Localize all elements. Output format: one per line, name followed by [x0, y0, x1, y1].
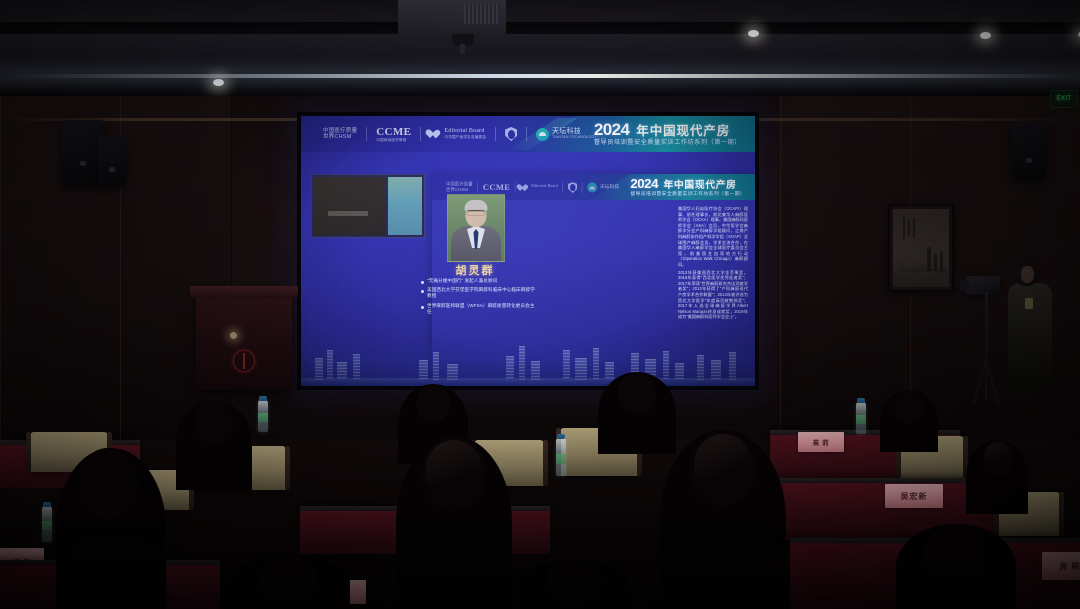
ccme-logo: CCME	[483, 183, 510, 192]
bullet-dot-icon	[421, 281, 424, 284]
ceiling-downlight	[748, 30, 759, 37]
audience-member	[230, 556, 350, 609]
slide-title: 年中国现代产房	[636, 124, 730, 138]
operator-face	[1021, 266, 1034, 283]
audience-member	[880, 390, 938, 452]
audience-member	[966, 440, 1028, 514]
ceiling-led-strip	[0, 74, 1080, 78]
chsm-logo: 中国医疗质量 世界CHSM	[323, 128, 357, 141]
logo-divider	[477, 182, 478, 193]
video-camera	[966, 276, 1000, 295]
audience-member	[520, 560, 630, 609]
bio-paragraph: 2013年获美国西北大学金苹果奖，2016年获得“西北医学优秀医者奖”；2017…	[678, 270, 748, 320]
attendee-shoulders	[56, 534, 166, 609]
portrait-glasses	[467, 210, 486, 216]
speaker-cone	[80, 161, 87, 166]
wall-speaker-left-lower	[98, 136, 126, 186]
inner-slide-year: 2024	[630, 177, 658, 190]
audience-member	[660, 430, 786, 609]
bottle-label	[258, 413, 268, 421]
logo-divider	[563, 182, 564, 193]
attendee-hair-highlight	[694, 434, 752, 496]
operator-badge	[1025, 298, 1033, 309]
lectern-lamp	[230, 332, 237, 339]
name-placard: 房 晓	[1042, 552, 1080, 580]
bullet-dot-icon	[421, 306, 424, 309]
speaker-credentials: “无痛分娩中国行” 发起人兼总顾问 美国西北大学芬堡医学院麻醉科临床中心临床麻醉…	[421, 278, 539, 318]
ceiling-soffit	[0, 34, 1080, 72]
bottle-cap	[43, 502, 51, 507]
inner-slide-subtitle: 督导员培训暨安全质量实训工作坊系列（第一期）	[630, 191, 745, 197]
bottle-cap	[857, 398, 865, 403]
logo-divider	[495, 127, 496, 141]
thumbnail-teal-panel	[388, 177, 422, 235]
bullet-dot-icon	[421, 290, 424, 293]
audience-member	[396, 436, 512, 609]
tiantan-tech-logo: 天坛科技 TIANTAN TECHNOLOGY	[536, 128, 597, 141]
attendee-shoulders	[660, 524, 786, 609]
speaker-bio: 美国华人妇幼医疗协会（OCAPI）理事、前任理事长，前北美华人麻醉医师学会（OC…	[678, 206, 748, 322]
audience-member	[176, 400, 252, 490]
tripod-leg	[985, 360, 987, 400]
camera-lens-icon	[960, 280, 969, 291]
tiantan-icon	[587, 182, 597, 192]
heart-icon	[430, 129, 441, 139]
editorial-board-logo: Editorial Board	[520, 184, 557, 192]
speaker-name: 胡灵群	[429, 262, 521, 278]
thumbnail-text-line	[328, 211, 368, 216]
attendee-hair-highlight	[426, 440, 482, 500]
attendee-head	[894, 390, 924, 424]
bottle-cap	[259, 396, 267, 401]
attendee-hair-highlight	[984, 442, 1012, 472]
ccme-logo: CCME 中国继续医学教育	[376, 126, 411, 143]
water-bottle	[42, 506, 52, 542]
speaker-cone	[1026, 158, 1033, 163]
attendee-shoulders	[396, 528, 512, 609]
lectern	[196, 292, 292, 390]
name-placard: 吴宏新	[885, 484, 943, 508]
slide-title-block: 2024 年中国现代产房 督导员培训暨安全质量实训工作坊系列（第一期）	[594, 121, 741, 147]
water-bottle	[556, 438, 566, 476]
slide-subtitle: 督导员培训暨安全质量实训工作坊系列（第一期）	[594, 139, 741, 147]
camera-operator	[1008, 258, 1052, 390]
attendee-head	[416, 384, 450, 422]
chsm-logo: 中国医疗质量 世界CHSM	[446, 182, 473, 192]
bottle-label	[42, 521, 52, 530]
name-placard: 茱 莉	[798, 432, 844, 452]
attendee-head	[194, 400, 234, 444]
conference-room-scene: EXIT 中国医疗质量 世界CHSM	[0, 0, 1080, 609]
attendee-head	[924, 524, 986, 584]
tiantan-tech-logo: 天坛科技	[587, 182, 619, 192]
ceiling-dark-band	[0, 22, 1080, 34]
shield-icon	[568, 182, 577, 193]
audience-member	[598, 372, 676, 454]
slide-header: 中国医疗质量 世界CHSM CCME 中国继续医学教育 Editorial Bo…	[301, 116, 755, 152]
bio-paragraph: 美国华人妇幼医疗协会（OCAPI）理事、前任理事长，前北美华人麻醉医师学会（OC…	[678, 206, 748, 268]
projector-mount	[460, 44, 465, 54]
credential-item: 世界麻醉医师联盟（WFSA）麻醉质量转化委员会主任	[421, 303, 539, 315]
attendee-head	[260, 556, 318, 604]
bottle-label	[556, 454, 566, 464]
attendee-head	[618, 372, 656, 414]
credential-item: “无痛分娩中国行” 发起人兼总顾问	[421, 278, 539, 284]
speaker-portrait	[447, 194, 505, 262]
exit-sign-label: EXIT	[1057, 96, 1072, 102]
water-bottle	[856, 402, 866, 434]
tiantan-icon	[536, 128, 549, 141]
inner-slide-title-block: 2024 年中国现代产房 督导员培训暨安全质量实训工作坊系列（第一期）	[630, 177, 745, 197]
shield-icon	[505, 127, 517, 141]
logo-divider	[526, 127, 527, 141]
ceiling-downlight	[213, 79, 224, 86]
sponsor-logo-row: 中国医疗质量 世界CHSM CCME 中国继续医学教育 Editorial Bo…	[323, 123, 597, 145]
water-bottle	[258, 400, 268, 432]
attendee-head	[78, 448, 138, 518]
inner-slide-title: 年中国现代产房	[663, 179, 736, 190]
audience-member	[56, 448, 166, 609]
bottle-cap	[557, 434, 565, 439]
logo-divider	[420, 127, 421, 141]
inner-sponsor-logo-row: 中国医疗质量 世界CHSM CCME Editorial Board	[446, 182, 619, 194]
slide-thumbnail	[311, 174, 425, 238]
lectern-top	[190, 286, 298, 298]
attendee-head	[546, 560, 602, 606]
bottle-label	[856, 415, 866, 423]
painting-canvas	[893, 209, 949, 287]
wall-speaker-right	[1012, 122, 1046, 180]
exit-sign: EXIT	[1050, 90, 1078, 108]
shield-logo	[505, 127, 517, 141]
heart-icon	[520, 184, 529, 192]
logo-divider	[366, 127, 367, 141]
projection-screen: 中国医疗质量 世界CHSM CCME 中国继续医学教育 Editorial Bo…	[301, 116, 755, 386]
lectern-emblem	[233, 350, 255, 372]
ceiling-downlight	[980, 32, 991, 39]
speaker-cone	[109, 167, 116, 172]
logo-divider	[582, 182, 583, 193]
credential-item: 美国西北大学芬堡医学院麻醉科临床中心临床麻醉学教授	[421, 287, 539, 299]
slide-year: 2024	[594, 121, 629, 138]
editorial-board-logo: Editorial Board 中华围产医学杂志编委会	[430, 128, 486, 140]
projector-vent	[464, 4, 500, 24]
thumbnail-dark-panel	[314, 177, 386, 235]
audience-member	[896, 524, 1016, 609]
framed-ink-painting	[888, 204, 954, 292]
